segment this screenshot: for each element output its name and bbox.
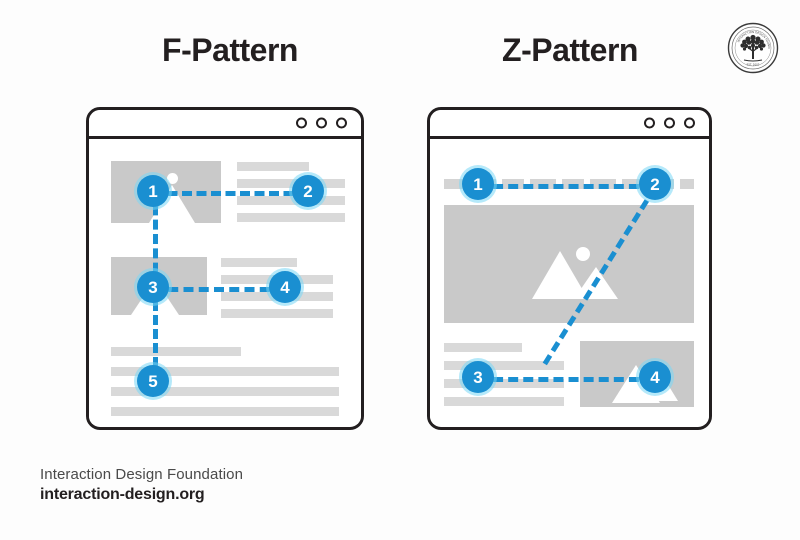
window-dot-3-icon[interactable] [684, 118, 695, 129]
idf-tree-seal-logo: EST. 2002 INTERACTION DESIGN FOUNDATION [727, 22, 779, 74]
scan-marker-3[interactable]: 3 [137, 271, 169, 303]
scan-marker-label: 1 [473, 176, 482, 193]
footer-website[interactable]: interaction-design.org [40, 486, 243, 504]
scan-marker-3[interactable]: 3 [462, 361, 494, 393]
text-line [237, 196, 345, 205]
window-dot-1-icon[interactable] [296, 118, 307, 129]
scan-marker-1[interactable]: 1 [137, 175, 169, 207]
nav-item[interactable] [680, 179, 694, 189]
browser-chrome-f [89, 110, 361, 139]
text-line [237, 162, 309, 171]
scan-path-segment-3-4 [478, 377, 654, 382]
infographic-canvas: F-Pattern Z-Pattern [0, 0, 800, 540]
scan-marker-2[interactable]: 2 [639, 168, 671, 200]
scan-marker-label: 4 [650, 369, 659, 386]
hero-image-placeholder [444, 205, 694, 323]
scan-marker-label: 2 [303, 183, 312, 200]
scan-marker-4[interactable]: 4 [639, 361, 671, 393]
window-controls-f [296, 118, 347, 129]
scan-marker-5[interactable]: 5 [137, 365, 169, 397]
scan-marker-label: 1 [148, 183, 157, 200]
scan-path-segment-3-4 [153, 287, 285, 292]
scan-marker-label: 4 [280, 279, 289, 296]
text-line [237, 179, 345, 188]
window-dot-2-icon[interactable] [316, 118, 327, 129]
text-line [111, 347, 241, 356]
scan-marker-label: 2 [650, 176, 659, 193]
content-image-placeholder-3 [580, 341, 694, 407]
scan-path-segment-1-2 [153, 191, 308, 196]
footer-organization: Interaction Design Foundation [40, 466, 243, 483]
scan-marker-4[interactable]: 4 [269, 271, 301, 303]
svg-text:EST. 2002: EST. 2002 [747, 63, 760, 67]
page-title-z-pattern: Z-Pattern [420, 32, 720, 69]
browser-window-f-pattern: 1 2 3 4 5 [86, 107, 364, 430]
browser-viewport-z: 1 2 3 4 [430, 139, 709, 424]
text-line [237, 213, 345, 222]
window-dot-1-icon[interactable] [644, 118, 655, 129]
browser-window-z-pattern: 1 2 3 4 [427, 107, 712, 430]
nav-item[interactable] [444, 179, 464, 189]
scan-marker-label: 3 [148, 279, 157, 296]
scan-marker-2[interactable]: 2 [292, 175, 324, 207]
text-line [221, 258, 297, 267]
scan-marker-label: 5 [148, 373, 157, 390]
window-controls-z [644, 118, 695, 129]
browser-chrome-z [430, 110, 709, 139]
browser-viewport-f: 1 2 3 4 5 [89, 139, 361, 424]
scan-path-segment-1-2 [478, 184, 654, 189]
text-line [111, 407, 339, 416]
text-line [444, 397, 564, 406]
window-dot-2-icon[interactable] [664, 118, 675, 129]
scan-marker-1[interactable]: 1 [462, 168, 494, 200]
sun-icon [167, 173, 178, 184]
text-line [444, 343, 522, 352]
text-line [221, 309, 333, 318]
page-title-f-pattern: F-Pattern [80, 32, 380, 69]
sun-icon [576, 247, 590, 261]
footer: Interaction Design Foundation interactio… [40, 466, 243, 504]
window-dot-3-icon[interactable] [336, 118, 347, 129]
scan-marker-label: 3 [473, 369, 482, 386]
